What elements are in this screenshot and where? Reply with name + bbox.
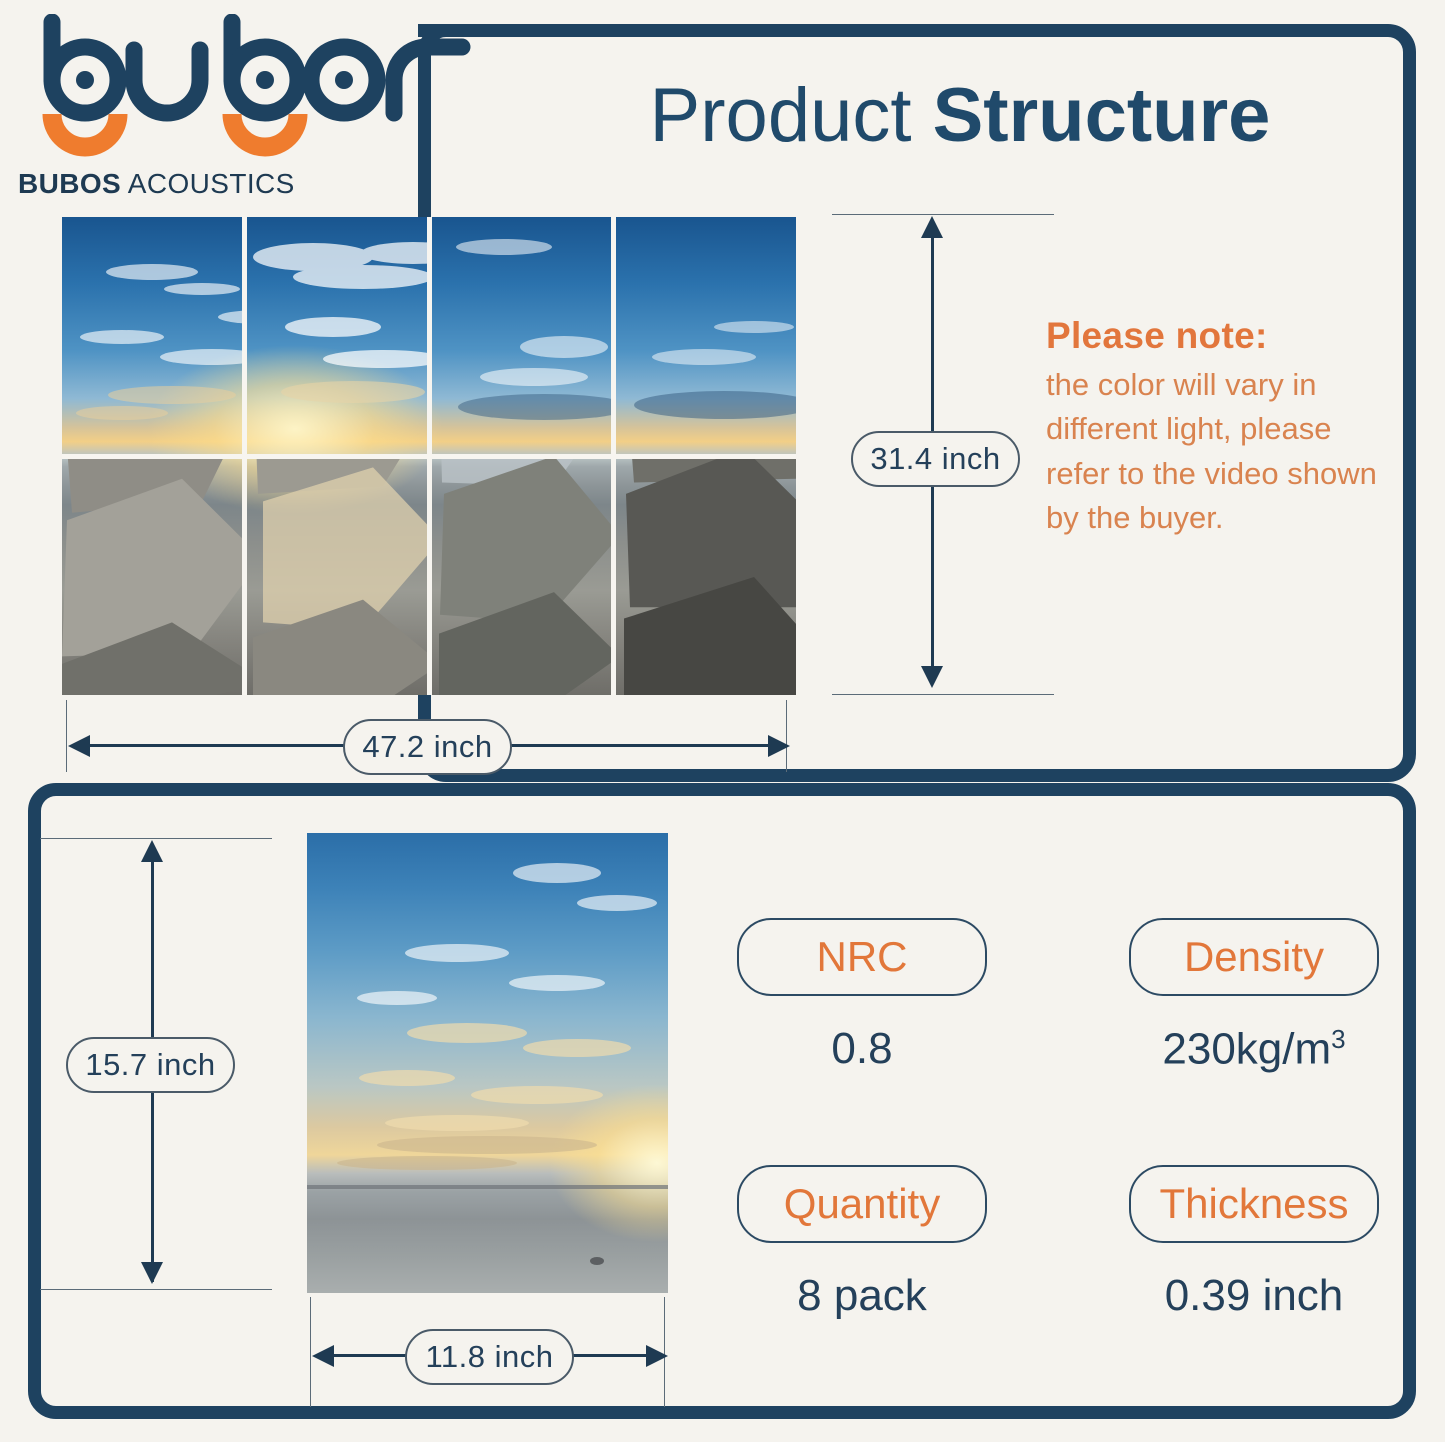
spec-caption: Thickness [1129,1165,1379,1243]
spec-value: 0.39 inch [1129,1271,1379,1321]
spec-value-text: 0.8 [831,1024,892,1073]
spec-card-thickness: Thickness 0.39 inch [1129,1165,1379,1321]
brand-subtitle-light: ACOUSTICS [121,168,295,199]
bubos-logo [22,14,472,159]
arrow-right-icon [768,735,790,757]
infographic-canvas: BUBOS ACOUSTICS Product Structure [0,0,1445,1442]
spec-caption: Quantity [737,1165,987,1243]
brand-subtitle-bold: BUBOS [18,168,121,199]
spec-value: 230kg/m3 [1129,1024,1379,1075]
please-note-body: the color will vary in different light, … [1046,363,1396,540]
panel-tile [62,217,242,454]
spec-caption: NRC [737,918,987,996]
spec-value-superscript: 3 [1331,1024,1345,1054]
panel-tile [432,217,612,454]
panel-tile [616,459,796,696]
brand-subtitle: BUBOS ACOUSTICS [18,168,295,200]
arrow-down-icon [921,666,943,688]
spec-value-text: 8 pack [797,1271,927,1320]
spec-value-text: 0.39 inch [1165,1271,1344,1320]
extension-line-left-2 [310,1297,311,1407]
panel-tile [247,459,427,696]
extension-line-bottom [832,694,1054,695]
arrow-up-icon [921,216,943,238]
spec-card-quantity: Quantity 8 pack [737,1165,987,1321]
spec-card-density: Density 230kg/m3 [1129,918,1379,1075]
panel-tile [62,459,242,696]
arrow-left-icon [312,1345,334,1367]
spec-card-nrc: NRC 0.8 [737,918,987,1074]
extension-line-top-2 [40,838,272,839]
extension-line-top [832,214,1054,215]
please-note-block: Please note: the color will vary in diff… [1046,315,1396,540]
spec-value-text: 230kg/m [1162,1025,1331,1074]
arrow-down-icon [141,1262,163,1284]
dimension-label-height-bottom: 15.7 inch [66,1037,235,1093]
bottom-section-frame [28,783,1416,1419]
spec-value: 0.8 [737,1024,987,1074]
page-title: Product Structure [545,78,1375,154]
dimension-label-width-top: 47.2 inch [343,719,512,775]
panel-tile [432,459,612,696]
spec-value: 8 pack [737,1271,987,1321]
panel-grid-8 [62,217,796,695]
dimension-label-height-top: 31.4 inch [851,431,1020,487]
dimension-label-width-bottom: 11.8 inch [405,1329,574,1385]
arrow-right-icon [646,1345,668,1367]
single-panel-artwork [307,833,668,1293]
panel-tile [247,217,427,454]
arrow-up-icon [141,840,163,862]
extension-line-bottom-2 [40,1289,272,1290]
arrow-left-icon [68,735,90,757]
page-title-regular: Product [650,73,933,158]
extension-line-left [66,700,67,772]
page-title-bold: Structure [933,73,1271,158]
panel-tile [616,217,796,454]
please-note-heading: Please note: [1046,315,1396,357]
spec-caption: Density [1129,918,1379,996]
